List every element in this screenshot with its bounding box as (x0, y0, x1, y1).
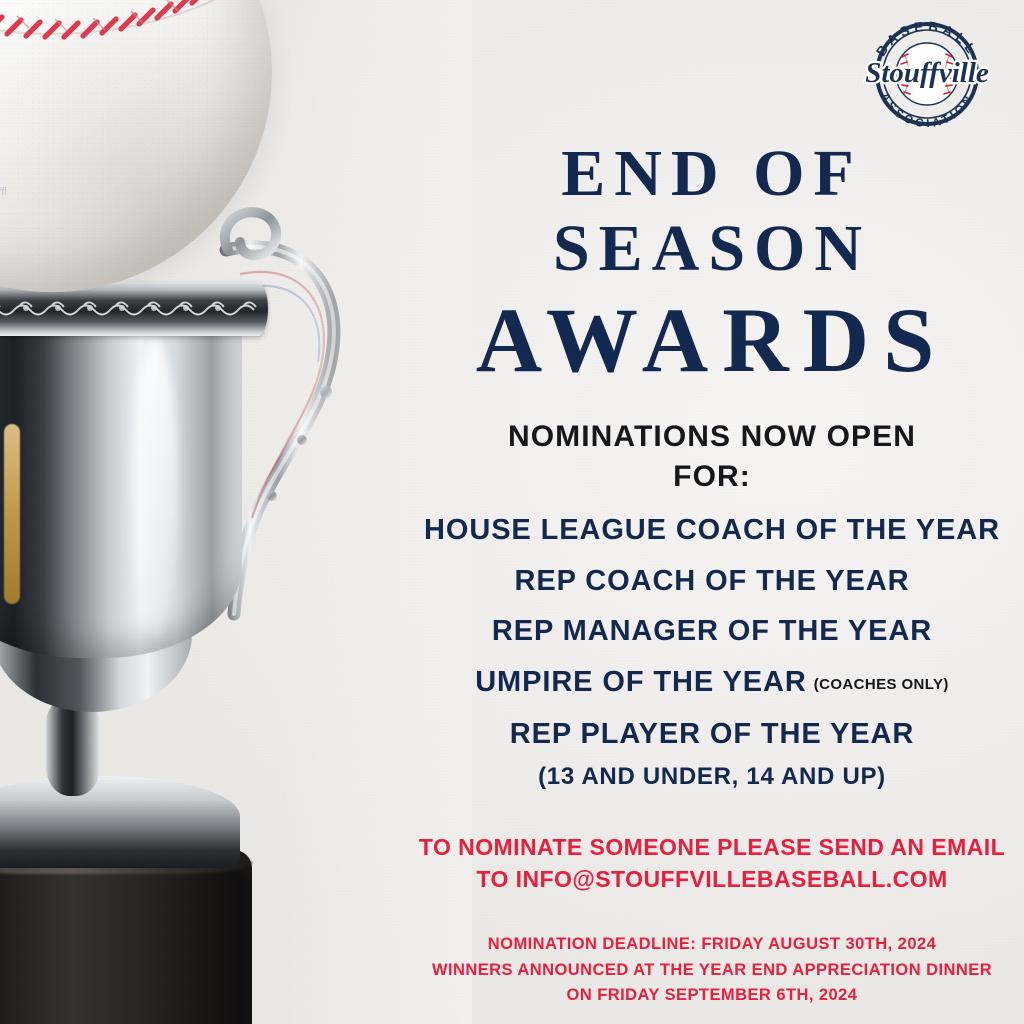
award-item-umpire-label: UMPIRE OF THE YEAR (475, 666, 806, 698)
intro-line-1: NOMINATIONS NOW OPEN (508, 418, 916, 456)
trophy-stem (46, 698, 100, 796)
deadline-line-1: NOMINATION DEADLINE: FRIDAY AUGUST 30TH,… (432, 932, 992, 958)
email-cta-line-2[interactable]: TO INFO@STOUFFVILLEBASEBALL.COM (419, 863, 1005, 896)
award-item-house-league-coach: HOUSE LEAGUE COACH OF THE YEAR (424, 514, 1000, 546)
award-item-rep-player-subnote: (13 AND UNDER, 14 AND UP) (538, 763, 886, 791)
award-item-rep-coach: REP COACH OF THE YEAR (515, 565, 910, 597)
poster-canvas: offl BASEBALL ASSOCIATION (0, 0, 1024, 1024)
headline-line-1: END OF (561, 142, 863, 207)
email-cta-line-1: TO NOMINATE SOMEONE PLEASE SEND AN EMAIL (419, 831, 1005, 864)
poster-content: END OF SEASON AWARDS NOMINATIONS NOW OPE… (400, 0, 1024, 1024)
award-item-rep-manager: REP MANAGER OF THE YEAR (492, 615, 932, 647)
headline-line-2: SEASON (553, 217, 871, 282)
award-item-rep-player: REP PLAYER OF THE YEAR (510, 718, 914, 750)
award-item-umpire-note: (COACHES ONLY) (814, 676, 949, 693)
trophy-rim-ornament (0, 296, 268, 320)
intro-line-2: FOR: (673, 458, 751, 496)
email-cta: TO NOMINATE SOMEONE PLEASE SEND AN EMAIL… (419, 831, 1005, 896)
trophy-gold-reflection (4, 424, 20, 604)
trophy-cup-body (0, 328, 242, 658)
deadline-block: NOMINATION DEADLINE: FRIDAY AUGUST 30TH,… (432, 932, 992, 1009)
trophy-baseball-photo: offl (0, 0, 452, 1024)
trophy-foot (0, 776, 240, 868)
headline-line-3: AWARDS (476, 295, 949, 385)
deadline-line-3: ON FRIDAY SEPTEMBER 6TH, 2024 (432, 983, 992, 1009)
trophy-base (0, 850, 252, 1024)
deadline-line-2: WINNERS ANNOUNCED AT THE YEAR END APPREC… (432, 958, 992, 984)
award-item-umpire: UMPIRE OF THE YEAR(COACHES ONLY) (475, 666, 949, 698)
trophy-highlight (132, 338, 178, 638)
